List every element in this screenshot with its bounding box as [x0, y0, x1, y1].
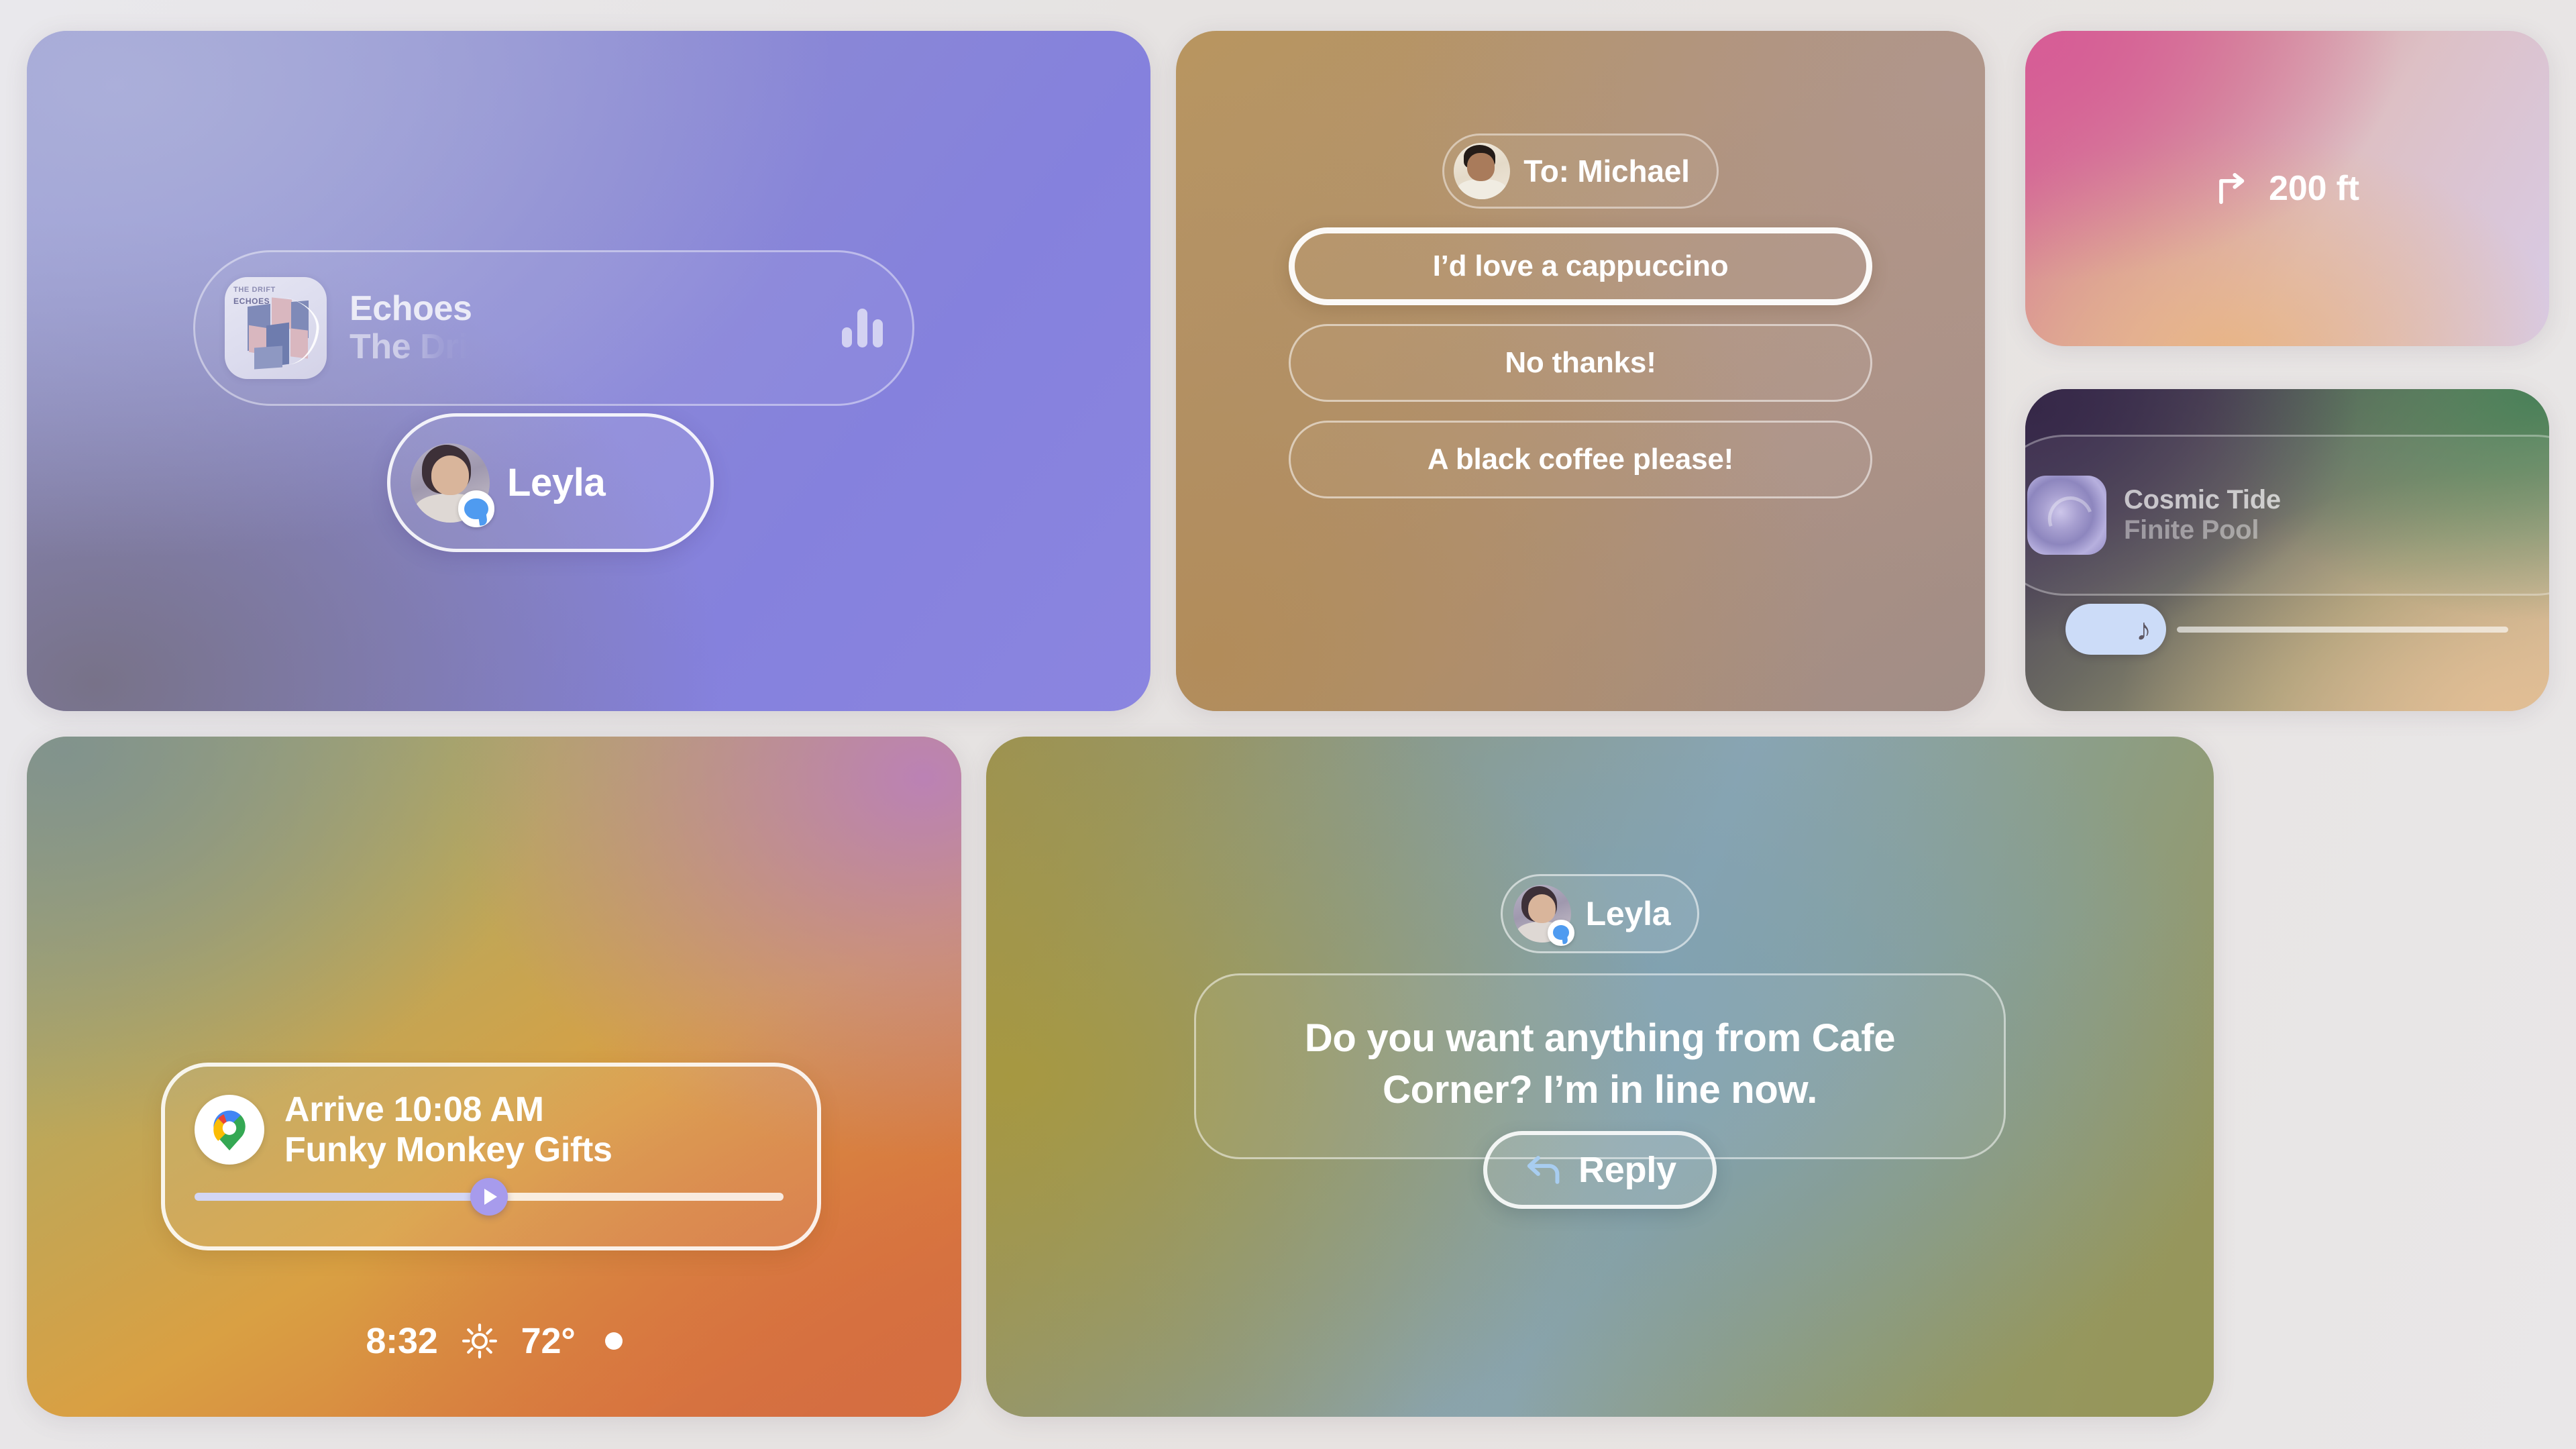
speech-bubble-shape: [464, 498, 488, 520]
arrival-panel[interactable]: Arrive 10:08 AM Funky Monkey Gifts: [161, 1063, 821, 1250]
music-player-card-cosmic[interactable]: Cosmic Tide Finite Pool ♪: [2025, 389, 2549, 711]
music-player-card-echoes[interactable]: THE DRIFT ECHOES Echoes The Drift: [27, 31, 1150, 711]
navigation-arrival-card[interactable]: Arrive 10:08 AM Funky Monkey Gifts 8:32: [27, 737, 961, 1417]
status-temperature: 72°: [521, 1320, 576, 1362]
route-progress-slider[interactable]: [195, 1188, 784, 1205]
navigation-row: 200 ft: [2025, 31, 2549, 346]
playback-scrubber[interactable]: ♪: [2065, 604, 2508, 655]
album-art-label-top: THE DRIFT: [233, 286, 276, 294]
messages-badge-icon: [1548, 920, 1574, 947]
album-art-cosmic-tide: [2027, 476, 2106, 555]
arrival-eta: Arrive 10:08 AM: [284, 1089, 612, 1130]
message-stack: Leyla Do you want anything from Cafe Cor…: [986, 737, 2214, 1417]
album-art-swoosh: [241, 294, 322, 368]
sun-icon: [461, 1322, 498, 1360]
widget-board: THE DRIFT ECHOES Echoes The Drift: [0, 0, 2576, 1449]
quick-reply-option-label: I’d love a cappuccino: [1433, 250, 1729, 283]
quick-reply-option[interactable]: No thanks!: [1289, 324, 1872, 402]
quick-reply-option[interactable]: A black coffee please!: [1289, 421, 1872, 498]
arrival-header: Arrive 10:08 AM Funky Monkey Gifts: [195, 1089, 784, 1171]
quick-reply-option-label: No thanks!: [1505, 346, 1656, 380]
navigation-distance-card[interactable]: 200 ft: [2025, 31, 2549, 346]
arrival-destination: Funky Monkey Gifts: [284, 1130, 612, 1170]
notification-pill-leyla[interactable]: Leyla: [387, 413, 714, 552]
music-note-icon: ♪: [2136, 614, 2151, 645]
avatar: [411, 443, 490, 523]
equalizer-icon: [842, 309, 883, 347]
reply-arrow-icon: [1523, 1153, 1562, 1187]
album-art-echoes: THE DRIFT ECHOES: [225, 277, 327, 379]
recipient-chip[interactable]: To: Michael: [1442, 133, 1718, 209]
google-maps-pin-icon: [195, 1095, 264, 1165]
navigation-distance-label: 200 ft: [2269, 168, 2359, 209]
now-playing-pill[interactable]: Cosmic Tide Finite Pool: [2025, 435, 2549, 596]
music-note-chip[interactable]: ♪: [2065, 604, 2166, 655]
quick-reply-option-label: A black coffee please!: [1428, 443, 1733, 476]
message-body: Do you want anything from Cafe Corner? I…: [1238, 1013, 1962, 1116]
route-progress-filled: [195, 1193, 489, 1201]
status-dot: [605, 1332, 623, 1350]
message-card[interactable]: Leyla Do you want anything from Cafe Cor…: [986, 737, 2214, 1417]
reply-button[interactable]: Reply: [1483, 1131, 1717, 1209]
route-progress-remaining: [489, 1193, 784, 1201]
turn-right-icon: [2215, 170, 2251, 207]
message-sender-chip[interactable]: Leyla: [1501, 874, 1700, 953]
messages-badge-icon: [458, 490, 494, 527]
notification-sender-name: Leyla: [507, 460, 605, 505]
avatar: [1513, 885, 1571, 943]
track-metadata: Cosmic Tide Finite Pool: [2124, 485, 2281, 545]
avatar: [1454, 143, 1510, 199]
play-triangle-icon: [484, 1189, 497, 1205]
quick-reply-stack: To: Michael I’d love a cappuccino No tha…: [1176, 31, 1985, 711]
recipient-label: To: Michael: [1523, 153, 1689, 189]
track-title: Cosmic Tide: [2124, 485, 2281, 515]
now-playing-pill[interactable]: THE DRIFT ECHOES Echoes The Drift: [193, 250, 914, 406]
status-row: 8:32 72°: [27, 1320, 961, 1362]
track-metadata: Echoes The Drift: [350, 290, 490, 366]
route-progress-thumb[interactable]: [470, 1178, 508, 1216]
reply-button-label: Reply: [1578, 1149, 1676, 1191]
arrival-text-block: Arrive 10:08 AM Funky Monkey Gifts: [284, 1089, 612, 1171]
track-artist: Finite Pool: [2124, 515, 2281, 546]
quick-reply-option[interactable]: I’d love a cappuccino: [1289, 227, 1872, 305]
speech-bubble-shape: [1553, 925, 1570, 940]
avatar-shoulders: [1457, 179, 1507, 199]
track-artist: The Drift: [350, 327, 490, 366]
message-sender-name: Leyla: [1586, 894, 1671, 933]
status-time: 8:32: [366, 1320, 437, 1362]
quick-reply-card[interactable]: To: Michael I’d love a cappuccino No tha…: [1176, 31, 1985, 711]
maps-pin-glyph: [204, 1104, 255, 1155]
track-title: Echoes: [350, 290, 490, 327]
avatar-face: [1454, 143, 1510, 199]
scrubber-track[interactable]: [2177, 627, 2508, 633]
